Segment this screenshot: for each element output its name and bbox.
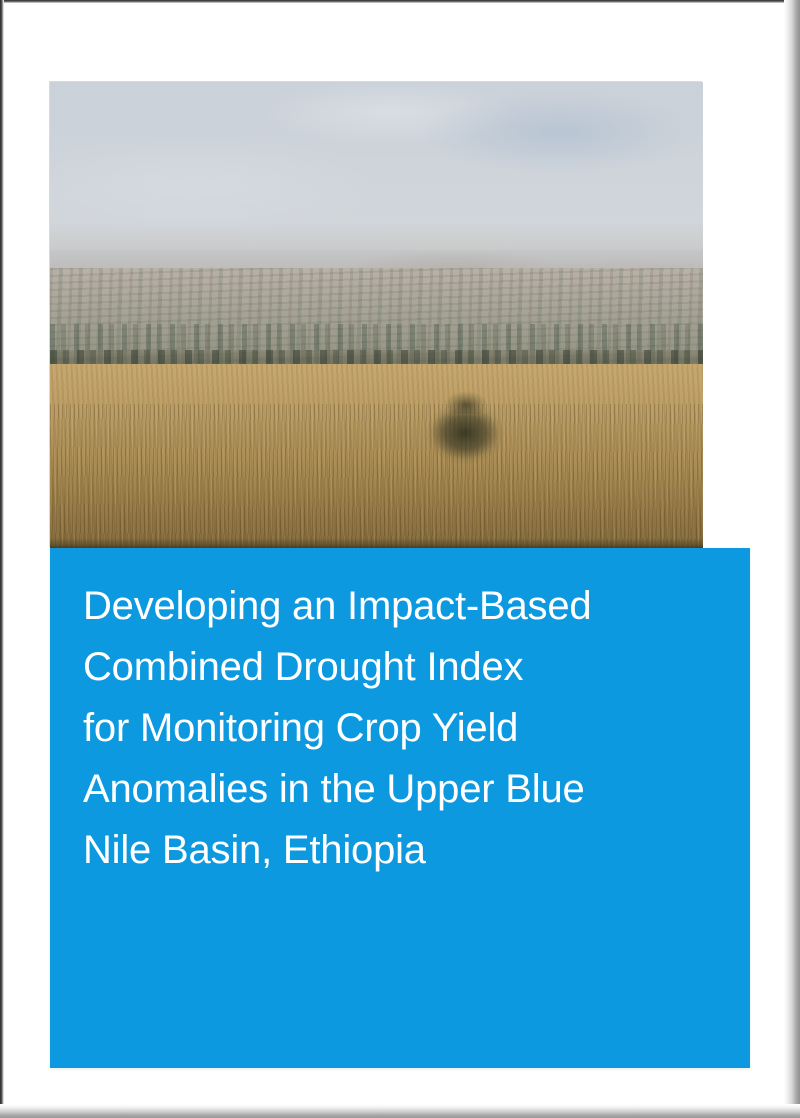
- scan-edge-shadow-left: [0, 0, 4, 1118]
- book-cover: Developing an Impact-Based Combined Drou…: [50, 82, 750, 1068]
- book-title: Developing an Impact-Based Combined Drou…: [83, 576, 716, 881]
- photo-region-foreground-shadow: [50, 538, 703, 548]
- title-line: Nile Basin, Ethiopia: [83, 820, 716, 881]
- title-panel: Developing an Impact-Based Combined Drou…: [50, 548, 750, 1068]
- photo-region-field-texture: [50, 404, 703, 548]
- photo-region-bush: [422, 390, 508, 464]
- scan-edge-shadow-right: [784, 0, 800, 1118]
- scan-edge-shadow-top: [0, 0, 800, 3]
- title-line: Developing an Impact-Based: [83, 576, 716, 637]
- cover-photograph: [50, 82, 703, 548]
- title-line: Combined Drought Index: [83, 637, 716, 698]
- title-line: Anomalies in the Upper Blue: [83, 759, 716, 820]
- book-author: Yared Ashenafi Bayissa: [83, 1074, 347, 1103]
- scanned-cover-page: Developing an Impact-Based Combined Drou…: [0, 0, 800, 1118]
- title-line: for Monitoring Crop Yield: [83, 698, 716, 759]
- scan-edge-shadow-bottom: [0, 1104, 800, 1118]
